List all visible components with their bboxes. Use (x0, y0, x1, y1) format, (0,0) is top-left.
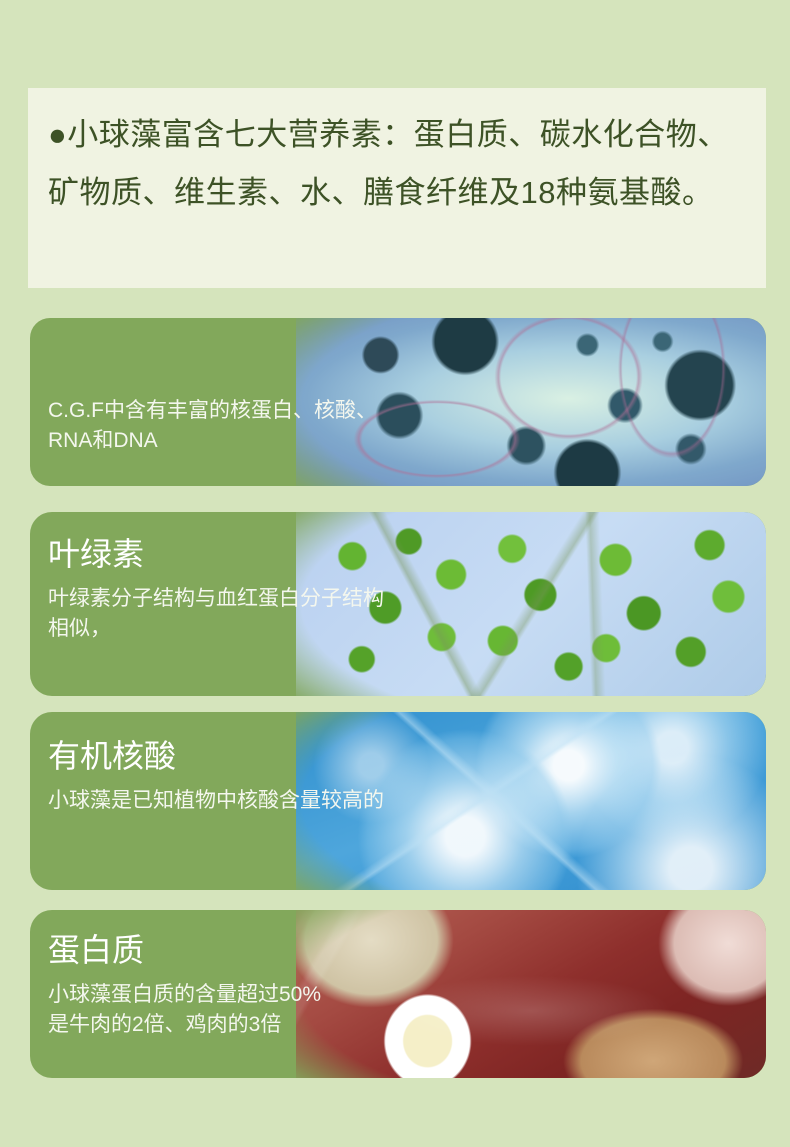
card-title: 叶绿素 (48, 532, 486, 576)
feature-card-chlorophyll[interactable]: 叶绿素 叶绿素分子结构与血红蛋白分子结构 相似， (30, 512, 766, 696)
card-description: 叶绿素分子结构与血红蛋白分子结构 相似， (48, 584, 486, 644)
feature-card-cgf[interactable]: C.G.F中含有丰富的核蛋白、核酸、 RNA和DNA (30, 318, 766, 486)
card-description: C.G.F中含有丰富的核蛋白、核酸、 RNA和DNA (48, 396, 486, 456)
card-text-block: 叶绿素 叶绿素分子结构与血红蛋白分子结构 相似， (48, 532, 486, 644)
card-text-block: C.G.F中含有丰富的核蛋白、核酸、 RNA和DNA (48, 396, 486, 456)
card-description: 小球藻蛋白质的含量超过50% 是牛肉的2倍、鸡肉的3倍 (48, 980, 486, 1040)
nutrients-summary-text: ●小球藻富含七大营养素：蛋白质、碳水化合物、矿物质、维生素、水、膳食纤维及18种… (48, 106, 746, 222)
card-title: 有机核酸 (48, 734, 486, 778)
card-text-block: 蛋白质 小球藻蛋白质的含量超过50% 是牛肉的2倍、鸡肉的3倍 (48, 928, 486, 1040)
card-description: 小球藻是已知植物中核酸含量较高的 (48, 786, 486, 816)
feature-card-protein[interactable]: 蛋白质 小球藻蛋白质的含量超过50% 是牛肉的2倍、鸡肉的3倍 (30, 910, 766, 1078)
nutrients-summary-box: ●小球藻富含七大营养素：蛋白质、碳水化合物、矿物质、维生素、水、膳食纤维及18种… (28, 88, 766, 288)
card-text-block: 有机核酸 小球藻是已知植物中核酸含量较高的 (48, 734, 486, 816)
feature-card-organic-nucleic-acid[interactable]: 有机核酸 小球藻是已知植物中核酸含量较高的 (30, 712, 766, 890)
card-title: 蛋白质 (48, 928, 486, 972)
